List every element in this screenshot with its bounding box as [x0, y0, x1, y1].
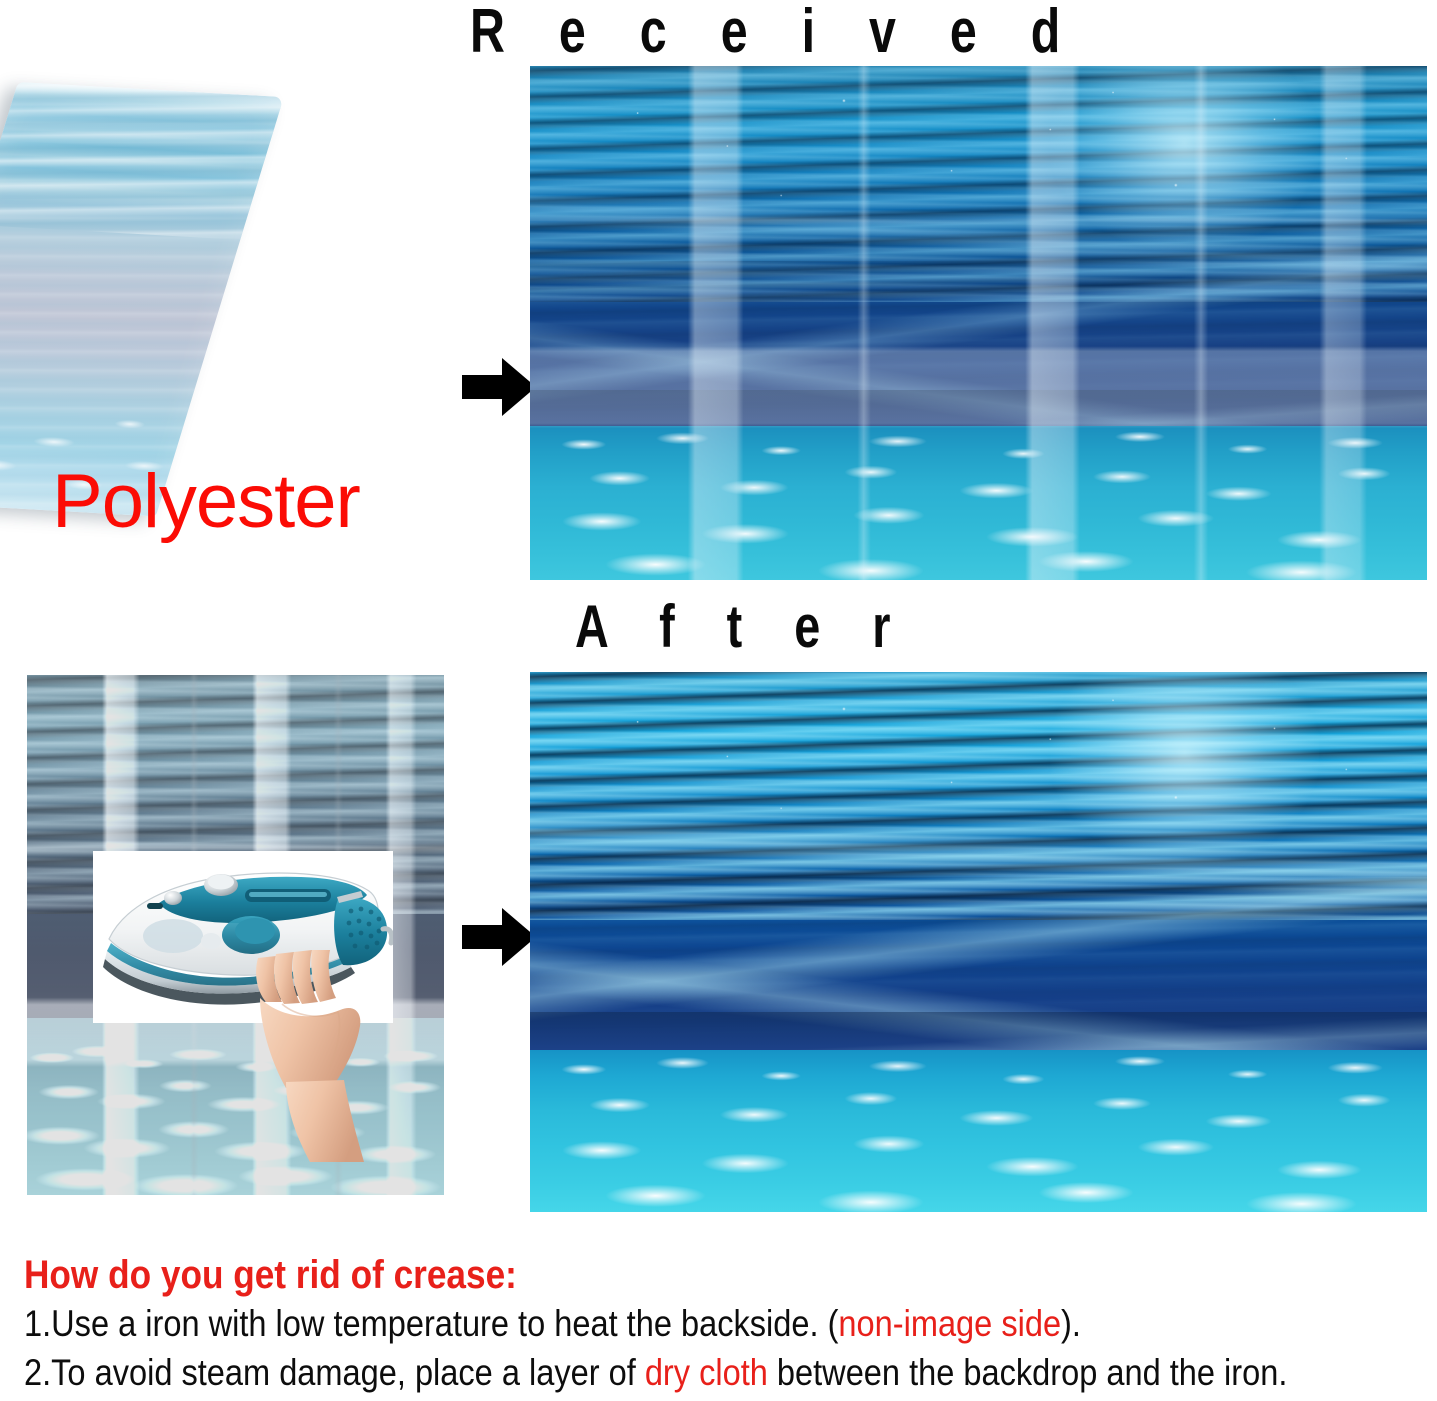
care-instructions-block: How do you get rid of crease: 1.Use a ir…: [24, 1252, 1424, 1396]
ocean-seabed: [530, 426, 1427, 580]
received-section-label: R e c e i v e d: [470, 0, 1081, 67]
instruction-1-text-b: ).: [1061, 1303, 1081, 1344]
arrow-right-icon: [462, 358, 536, 416]
iron-small-dial: [201, 933, 221, 949]
iron-dial: [235, 918, 275, 944]
iron-graphic: [93, 851, 393, 1023]
instruction-2-number: 2.: [24, 1352, 51, 1393]
after-backdrop-image: [530, 672, 1427, 1212]
instruction-1-number: 1.: [24, 1303, 51, 1344]
instruction-2-text-b: between the backdrop and the iron.: [768, 1352, 1288, 1393]
ocean-mid-waves: [530, 877, 1427, 1039]
polyester-fabric-swatch: [0, 82, 284, 516]
after-section-label: A f t e r: [575, 592, 910, 661]
instruction-2-text-a: To avoid steam damage, place a layer of: [51, 1352, 645, 1393]
arrow-right-icon: [462, 908, 536, 966]
ocean-seabed: [27, 1018, 444, 1195]
instruction-1-text-a: Use a iron with low temperature to heat …: [51, 1303, 838, 1344]
instruction-1-highlight: non-image side: [838, 1303, 1061, 1344]
instruction-line-1: 1.Use a iron with low temperature to hea…: [24, 1301, 1256, 1348]
ocean-mid-waves: [530, 261, 1427, 415]
iron-steam-knob-top: [208, 875, 234, 890]
steam-iron-photo: [93, 851, 393, 1023]
instructions-heading: How do you get rid of crease:: [24, 1252, 1256, 1299]
instruction-2-highlight: dry cloth: [645, 1352, 768, 1393]
instruction-line-2: 2.To avoid steam damage, place a layer o…: [24, 1350, 1256, 1397]
arrow-shaft: [462, 925, 506, 949]
iron-vent-slot: [147, 903, 163, 909]
polyester-material-label: Polyester: [52, 458, 360, 545]
iron-water-window: [143, 919, 203, 953]
arrow-shaft: [462, 375, 506, 399]
iron-spray-button: [164, 891, 182, 905]
iron-slot-indicator: [249, 892, 327, 897]
received-backdrop-image: [530, 66, 1427, 580]
ocean-seabed: [530, 1050, 1427, 1212]
